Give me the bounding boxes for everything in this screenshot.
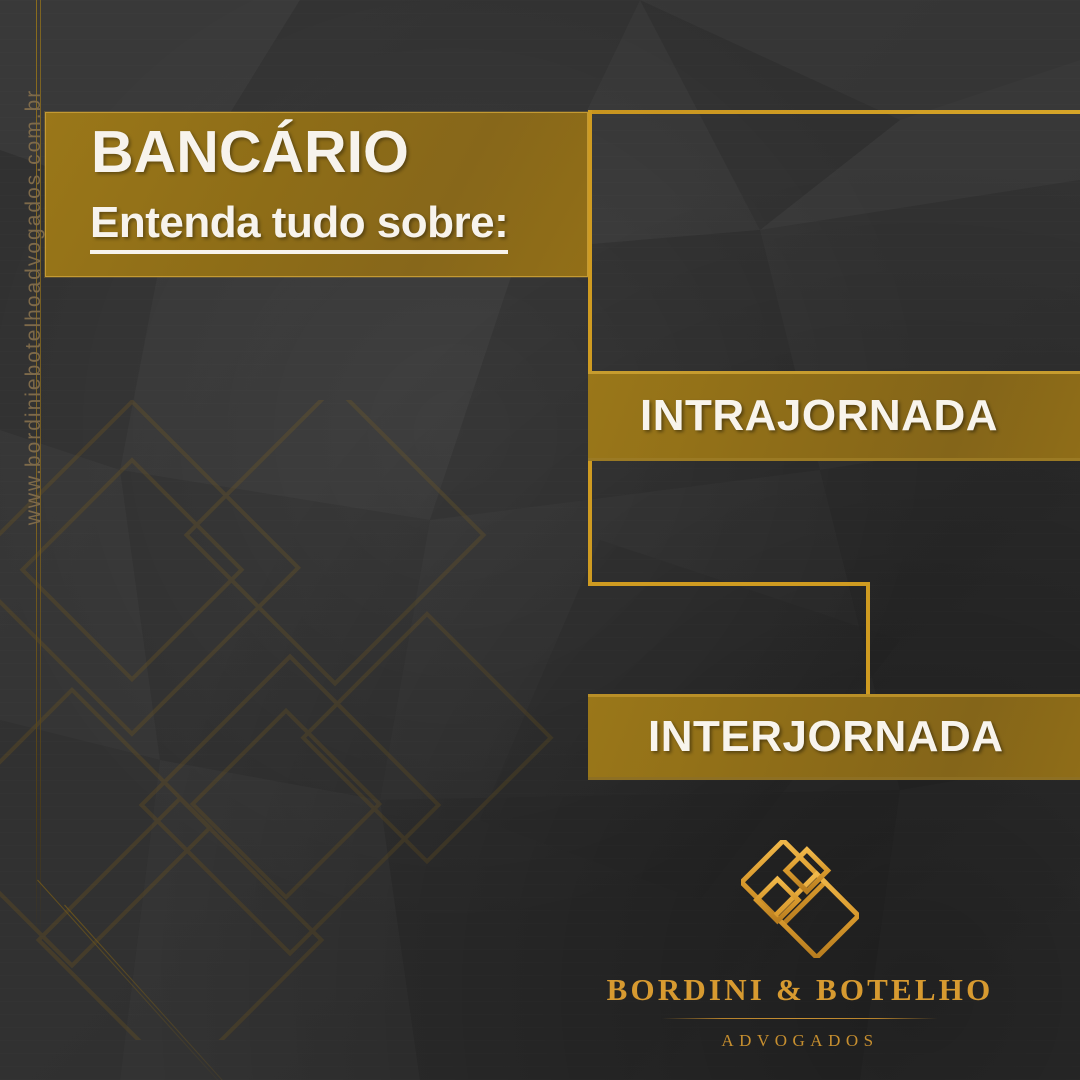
topic-bar-intrajornada[interactable]: INTRAJORNADA [588, 371, 1080, 461]
logo-divider [662, 1018, 938, 1019]
brand-logo: BORDINI & BOTELHO ADVOGADOS [600, 840, 1000, 1055]
page-title: BANCÁRIO [91, 123, 409, 182]
connector-line-top-horizontal [588, 110, 1080, 114]
connector-line-right-vertical [866, 582, 870, 703]
topic-label: INTERJORNADA [648, 712, 1004, 762]
logo-subtitle: ADVOGADOS [721, 1031, 878, 1051]
title-card: BANCÁRIO Entenda tudo sobre: [45, 112, 588, 277]
connector-line-main-vertical [588, 110, 592, 586]
diamond-watermark-pattern [0, 400, 580, 1040]
social-post-canvas: www.bordiniebotelhoadvogados.com.br BANC… [0, 0, 1080, 1080]
page-subtitle: Entenda tudo sobre: [90, 201, 508, 254]
logo-firm-name: BORDINI & BOTELHO [607, 972, 994, 1008]
topic-label: INTRAJORNADA [640, 391, 998, 441]
interlocking-diamonds-logo-icon [741, 840, 859, 958]
connector-line-middle-horizontal [588, 582, 870, 586]
website-url-vertical[interactable]: www.bordiniebotelhoadvogados.com.br [22, 17, 46, 597]
topic-bar-interjornada[interactable]: INTERJORNADA [588, 694, 1080, 780]
